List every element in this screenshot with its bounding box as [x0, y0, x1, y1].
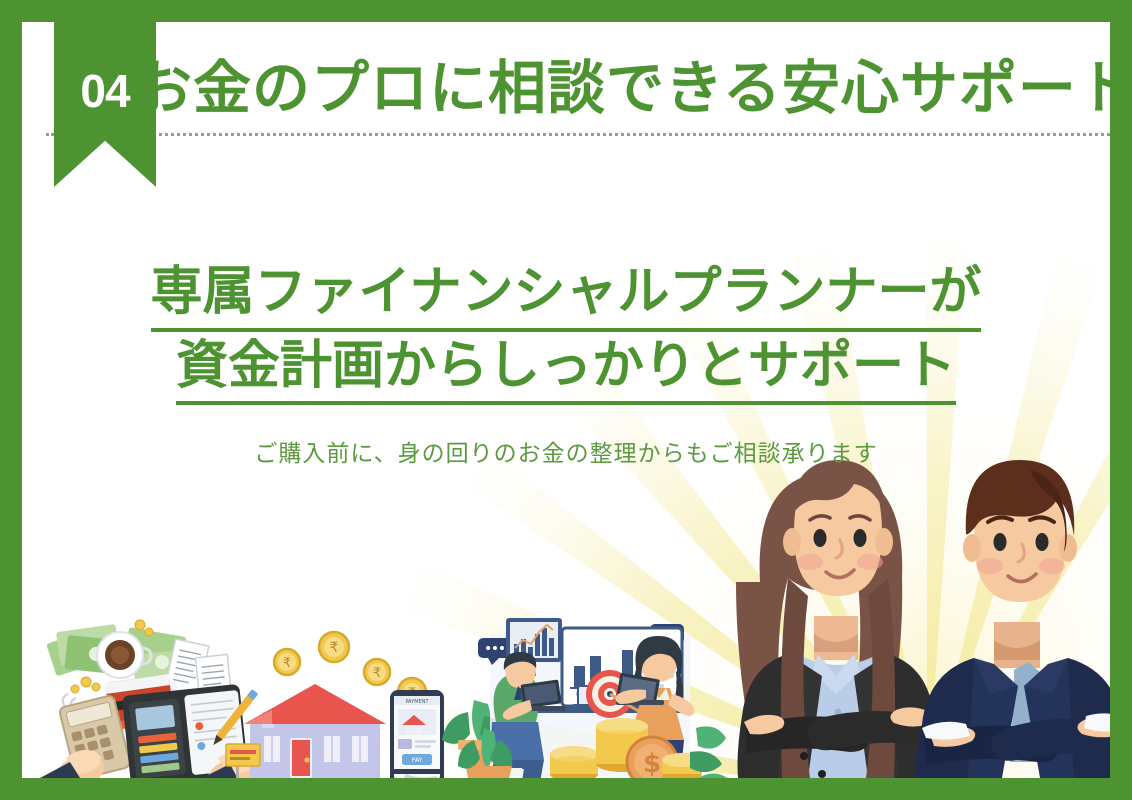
sold-sign — [226, 744, 260, 778]
svg-text:₹: ₹ — [330, 640, 339, 656]
plant-right-analytics — [690, 726, 730, 778]
calculator — [59, 695, 131, 778]
line-chart-monitor — [506, 618, 562, 676]
chat-bubble-left — [478, 638, 512, 665]
phone-screen-title-text: PAYMENT — [405, 699, 429, 705]
wallet-organizer — [122, 684, 249, 778]
receipt-papers — [164, 639, 233, 713]
female-financial-planner — [736, 460, 939, 778]
headline-block: 専属ファイナンシャルプランナーが 資金計画からしっかりとサポート — [22, 258, 1110, 405]
desk-laptop — [572, 686, 618, 708]
slide-root: ₹ ₹ ₹ — [0, 0, 1132, 800]
credit-cards — [105, 673, 181, 730]
hand-right — [198, 689, 259, 778]
laptop-left — [518, 679, 566, 711]
phone-pay-button-text: PAY — [412, 757, 423, 764]
ribbon-number-label: 04 — [54, 68, 156, 114]
standing-woman-with-laptop — [615, 636, 694, 778]
svg-text:₹: ₹ — [408, 686, 416, 701]
home-loan-scene: ₹ ₹ ₹ — [226, 632, 510, 778]
dartboard-target — [586, 670, 646, 718]
coffee-cup — [97, 632, 151, 678]
laptop-right — [616, 673, 664, 706]
page-title: お金のプロに相談できる安心サポート — [134, 58, 1099, 119]
coin-stacks: $ — [550, 718, 702, 778]
rupee-coins: ₹ ₹ ₹ — [274, 632, 426, 706]
pen — [210, 689, 258, 748]
headline-line-2: 資金計画からしっかりとサポート — [176, 332, 956, 406]
chat-bubble-right — [650, 624, 684, 651]
plant-left-analytics — [458, 728, 512, 778]
svg-text:₹: ₹ — [373, 666, 381, 681]
svg-text:₹: ₹ — [283, 656, 291, 671]
header-dotted-divider — [46, 133, 1110, 136]
house-illustration — [226, 684, 386, 778]
hand-left — [40, 750, 104, 778]
potted-plant-left — [442, 700, 510, 778]
dashboard-screen — [562, 628, 682, 706]
svg-text:$: $ — [643, 749, 661, 778]
business-analytics-scene: $ — [458, 618, 730, 778]
money-management-flatlay — [40, 620, 259, 778]
slide-inner-canvas: ₹ ₹ ₹ — [22, 22, 1110, 778]
payment-phone: PAYMENT PAY — [390, 690, 444, 778]
section-number-ribbon: 04 — [54, 22, 156, 187]
subtitle-text: ご購入前に、身の回りのお金の整理からもご相談承ります — [22, 434, 1110, 468]
seated-man-with-laptop — [490, 652, 566, 778]
headline-line-1: 専属ファイナンシャルプランナーが — [151, 258, 982, 332]
male-financial-planner — [916, 460, 1110, 778]
